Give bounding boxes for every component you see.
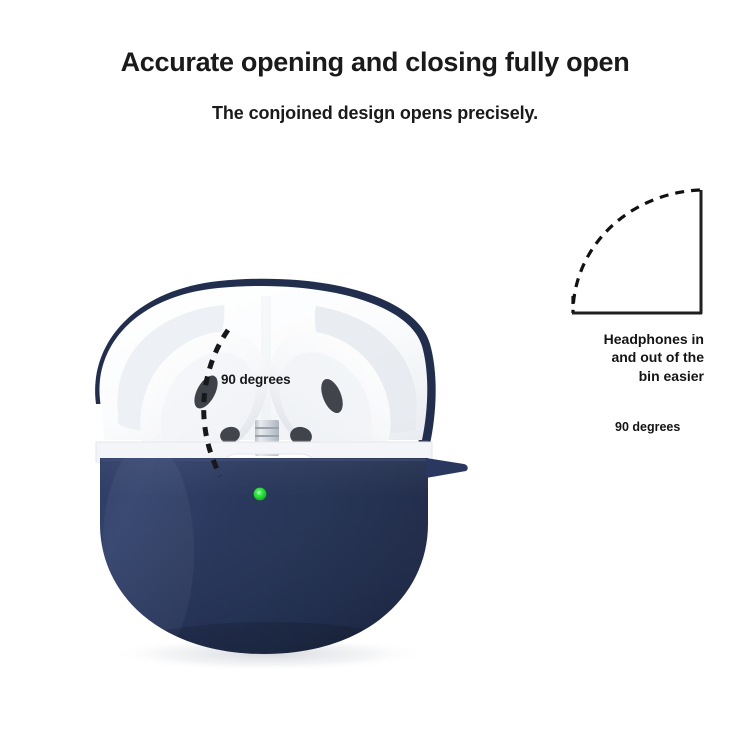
- page-title: Accurate opening and closing fully open: [0, 47, 750, 78]
- quarter-circle-graphic: [555, 178, 720, 328]
- product-illustration: [78, 272, 478, 672]
- caption-line-2: and out of the: [560, 348, 704, 366]
- angle-diagram-label: 90 degrees: [615, 420, 680, 434]
- angle-diagram-caption: Headphones in and out of the bin easier: [560, 330, 704, 385]
- led-status-indicator: [254, 488, 267, 501]
- page-subtitle: The conjoined design opens precisely.: [0, 103, 750, 124]
- product-infographic-page: Accurate opening and closing fully open …: [0, 0, 750, 750]
- caption-line-3: bin easier: [560, 367, 704, 385]
- case-body: [78, 422, 478, 672]
- product-angle-label: 90 degrees: [221, 372, 291, 387]
- airpods-case-graphic: [78, 272, 478, 672]
- caption-line-1: Headphones in: [560, 330, 704, 348]
- case-side-tab: [426, 458, 468, 478]
- arc-dashed-path: [573, 190, 700, 313]
